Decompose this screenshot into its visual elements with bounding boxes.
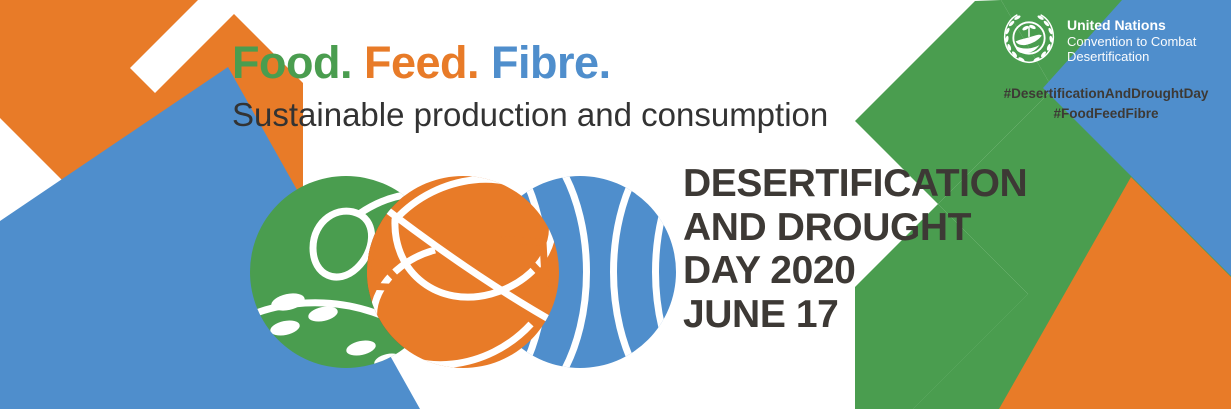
hashtag-primary: #DesertificationAndDroughtDay — [987, 84, 1225, 104]
campaign-subtitle: Sustainable production and consumption — [232, 97, 932, 133]
unccd-wordmark: United Nations Convention to Combat Dese… — [1067, 9, 1196, 65]
hashtag-secondary: #FoodFeedFibre — [987, 104, 1225, 124]
day-headline: DESERTIFICATION AND DROUGHT DAY 2020 JUN… — [683, 162, 1027, 337]
day-headline-line-1: DESERTIFICATION — [683, 162, 1027, 206]
day-headline-line-3: DAY 2020 — [683, 249, 1027, 293]
day-headline-line-4: JUNE 17 — [683, 293, 1027, 337]
ddd-2020-banner: Food. Feed. Fibre. Sustainable productio… — [0, 0, 1231, 409]
title-word-fibre: Fibre. — [491, 37, 611, 88]
campaign-title: Food. Feed. Fibre. — [232, 40, 932, 85]
food-feed-fibre-circles — [243, 176, 683, 368]
unccd-logo-lockup: United Nations Convention to Combat Dese… — [1000, 9, 1196, 67]
sprout-icon — [1022, 24, 1037, 37]
day-headline-line-2: AND DROUGHT — [683, 206, 1027, 250]
convention-line-1: Convention to Combat — [1067, 34, 1196, 50]
campaign-headline: Food. Feed. Fibre. Sustainable productio… — [232, 40, 932, 133]
organization-name: United Nations — [1067, 17, 1196, 34]
title-word-feed: Feed. — [364, 37, 479, 88]
title-word-food: Food. — [232, 37, 352, 88]
hashtag-block: #DesertificationAndDroughtDay #FoodFeedF… — [987, 84, 1225, 123]
un-ccd-emblem-icon — [1000, 9, 1058, 67]
convention-line-2: Desertification — [1067, 49, 1196, 65]
